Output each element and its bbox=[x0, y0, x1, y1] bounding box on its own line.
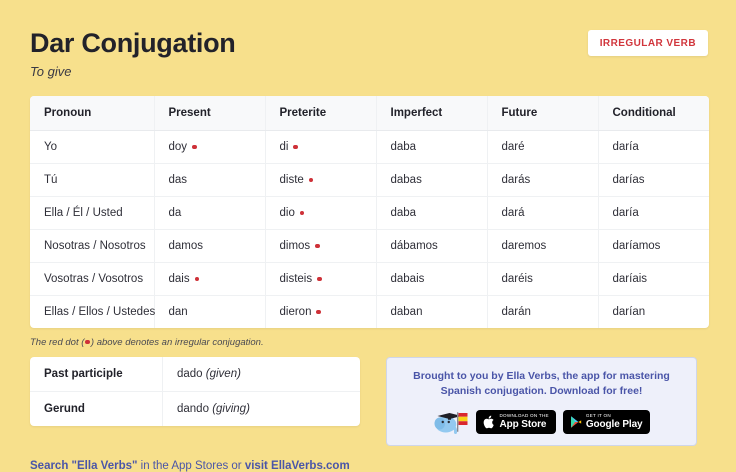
elephant-mascot-icon bbox=[433, 409, 469, 435]
column-header-pronoun: Pronoun bbox=[30, 96, 154, 131]
apple-icon bbox=[483, 415, 495, 429]
cell-pronoun: Ella / Él / Usted bbox=[30, 197, 154, 230]
cell-conditional: daría bbox=[598, 131, 709, 164]
conjugated-form: damos bbox=[169, 240, 204, 252]
verb-translation: To give bbox=[30, 64, 236, 79]
irregular-note: The red dot () above denotes an irregula… bbox=[30, 337, 708, 348]
conjugated-form: daba bbox=[391, 207, 417, 219]
footer-cta: Search "Ella Verbs" in the App Stores or… bbox=[30, 460, 708, 472]
red-dot-icon bbox=[309, 178, 314, 183]
form-value: dado (given) bbox=[163, 357, 361, 392]
conjugated-form: darían bbox=[613, 306, 646, 318]
cell-pronoun: Ellas / Ellos / Ustedes bbox=[30, 296, 154, 329]
verb-name: Dar bbox=[30, 28, 74, 58]
form-word: dando bbox=[177, 403, 212, 415]
conjugated-form: dieron bbox=[280, 306, 312, 318]
page-header: Dar Conjugation To give IRREGULAR VERB bbox=[30, 26, 708, 79]
promo-box: Brought to you by Ella Verbs, the app fo… bbox=[386, 357, 697, 445]
form-translation: (given) bbox=[206, 368, 241, 380]
app-store-text: Download on the App Store bbox=[499, 414, 548, 430]
table-row: Ellas / Ellos / Ustedesdandierondabandar… bbox=[30, 296, 709, 329]
conjugated-form: dabais bbox=[391, 273, 425, 285]
title-block: Dar Conjugation To give bbox=[30, 26, 236, 79]
conjugated-form: das bbox=[169, 174, 188, 186]
store-badges: Download on the App Store GET IT ON Goog… bbox=[397, 409, 686, 435]
table-header-row: Pronoun Present Preterite Imperfect Futu… bbox=[30, 96, 709, 131]
form-value: dando (giving) bbox=[163, 392, 361, 427]
conjugated-form: darán bbox=[502, 306, 531, 318]
conjugated-form: daremos bbox=[502, 240, 547, 252]
column-header-imperfect: Imperfect bbox=[376, 96, 487, 131]
cell-conditional: daríais bbox=[598, 263, 709, 296]
red-dot-icon bbox=[192, 145, 197, 150]
table-row: Vosotras / Vosotrosdaisdisteisdabaisdaré… bbox=[30, 263, 709, 296]
cell-preterite: disteis bbox=[265, 263, 376, 296]
google-play-text: GET IT ON Google Play bbox=[586, 414, 643, 430]
red-dot-icon bbox=[195, 277, 200, 282]
cell-future: darás bbox=[487, 164, 598, 197]
google-play-icon bbox=[570, 415, 582, 429]
conjugated-form: daríamos bbox=[613, 240, 661, 252]
cell-present: doy bbox=[154, 131, 265, 164]
page-title: Dar Conjugation bbox=[30, 28, 236, 58]
cell-pronoun: Vosotras / Vosotros bbox=[30, 263, 154, 296]
google-play-big: Google Play bbox=[586, 420, 643, 430]
cell-imperfect: dabas bbox=[376, 164, 487, 197]
page-title-rest: Conjugation bbox=[74, 28, 235, 58]
cell-conditional: daría bbox=[598, 197, 709, 230]
table-row: Ella / Él / Usteddadiodabadarádaría bbox=[30, 197, 709, 230]
google-play-small: GET IT ON bbox=[586, 414, 643, 419]
cell-imperfect: daba bbox=[376, 197, 487, 230]
conjugation-table: Pronoun Present Preterite Imperfect Futu… bbox=[30, 96, 709, 328]
cell-pronoun: Yo bbox=[30, 131, 154, 164]
cell-conditional: darías bbox=[598, 164, 709, 197]
table-row: Túdasdistedabasdarásdarías bbox=[30, 164, 709, 197]
table-row: Yodoydidabadarédaría bbox=[30, 131, 709, 164]
cell-pronoun: Tú bbox=[30, 164, 154, 197]
cell-preterite: dio bbox=[265, 197, 376, 230]
nonfinite-forms-card: Past participledado (given)Gerunddando (… bbox=[30, 357, 360, 426]
conjugated-form: daría bbox=[613, 207, 639, 219]
cell-pronoun: Nosotras / Nosotros bbox=[30, 230, 154, 263]
conjugated-form: diste bbox=[280, 174, 304, 186]
cell-present: dan bbox=[154, 296, 265, 329]
cell-preterite: dimos bbox=[265, 230, 376, 263]
cell-future: daremos bbox=[487, 230, 598, 263]
red-dot-icon bbox=[85, 340, 90, 345]
conjugated-form: daríais bbox=[613, 273, 648, 285]
app-store-badge[interactable]: Download on the App Store bbox=[476, 410, 555, 434]
conjugated-form: dio bbox=[280, 207, 295, 219]
cell-future: daréis bbox=[487, 263, 598, 296]
conjugated-form: dabas bbox=[391, 174, 422, 186]
form-word: dado bbox=[177, 368, 206, 380]
form-label: Past participle bbox=[30, 357, 163, 392]
form-label: Gerund bbox=[30, 392, 163, 427]
promo-line-2: Spanish conjugation. Download for free! bbox=[397, 384, 686, 399]
cell-future: darán bbox=[487, 296, 598, 329]
cell-conditional: darían bbox=[598, 296, 709, 329]
column-header-future: Future bbox=[487, 96, 598, 131]
conjugated-form: darías bbox=[613, 174, 645, 186]
red-dot-icon bbox=[317, 277, 322, 282]
irregular-note-before: The red dot ( bbox=[30, 337, 84, 348]
cell-preterite: di bbox=[265, 131, 376, 164]
conjugated-form: daría bbox=[613, 141, 639, 153]
cell-preterite: dieron bbox=[265, 296, 376, 329]
conjugation-table-body: YodoydidabadarédaríaTúdasdistedabasdarás… bbox=[30, 131, 709, 329]
cell-imperfect: dábamos bbox=[376, 230, 487, 263]
cell-present: dais bbox=[154, 263, 265, 296]
cell-preterite: diste bbox=[265, 164, 376, 197]
cell-present: damos bbox=[154, 230, 265, 263]
conjugated-form: dimos bbox=[280, 240, 311, 252]
red-dot-icon bbox=[300, 211, 305, 216]
cell-imperfect: daban bbox=[376, 296, 487, 329]
cell-future: dará bbox=[487, 197, 598, 230]
cell-imperfect: dabais bbox=[376, 263, 487, 296]
conjugated-form: dais bbox=[169, 273, 190, 285]
red-dot-icon bbox=[293, 145, 298, 150]
conjugated-form: di bbox=[280, 141, 289, 153]
form-row: Past participledado (given) bbox=[30, 357, 360, 392]
conjugated-form: darás bbox=[502, 174, 531, 186]
app-store-small: Download on the bbox=[499, 414, 548, 419]
footer-website-link[interactable]: visit EllaVerbs.com bbox=[245, 460, 350, 472]
nonfinite-forms-table: Past participledado (given)Gerunddando (… bbox=[30, 357, 360, 426]
table-row: Nosotras / Nosotrosdamosdimosdábamosdare… bbox=[30, 230, 709, 263]
cell-present: das bbox=[154, 164, 265, 197]
conjugated-form: doy bbox=[169, 141, 188, 153]
promo-text: Brought to you by Ella Verbs, the app fo… bbox=[397, 369, 686, 399]
conjugated-form: dábamos bbox=[391, 240, 438, 252]
cell-present: da bbox=[154, 197, 265, 230]
column-header-present: Present bbox=[154, 96, 265, 131]
conjugation-page: Dar Conjugation To give IRREGULAR VERB P… bbox=[0, 0, 736, 460]
conjugation-table-card: Pronoun Present Preterite Imperfect Futu… bbox=[30, 96, 709, 328]
red-dot-icon bbox=[316, 310, 321, 315]
red-dot-icon bbox=[315, 244, 320, 249]
footer-middle: in the App Stores or bbox=[137, 460, 244, 472]
conjugated-form: daban bbox=[391, 306, 423, 318]
google-play-badge[interactable]: GET IT ON Google Play bbox=[563, 410, 650, 434]
cell-future: daré bbox=[487, 131, 598, 164]
column-header-conditional: Conditional bbox=[598, 96, 709, 131]
promo-line-1: Brought to you by Ella Verbs, the app fo… bbox=[397, 369, 686, 384]
irregular-note-after: ) above denotes an irregular conjugation… bbox=[91, 337, 264, 348]
cell-imperfect: daba bbox=[376, 131, 487, 164]
conjugated-form: daréis bbox=[502, 273, 533, 285]
footer-search-term: Search "Ella Verbs" bbox=[30, 460, 137, 472]
cell-conditional: daríamos bbox=[598, 230, 709, 263]
conjugated-form: da bbox=[169, 207, 182, 219]
conjugated-form: dan bbox=[169, 306, 188, 318]
lower-section: Past participledado (given)Gerunddando (… bbox=[30, 357, 708, 445]
status-badge: IRREGULAR VERB bbox=[588, 30, 708, 56]
app-store-big: App Store bbox=[499, 420, 548, 430]
column-header-preterite: Preterite bbox=[265, 96, 376, 131]
nonfinite-forms-body: Past participledado (given)Gerunddando (… bbox=[30, 357, 360, 426]
form-translation: (giving) bbox=[212, 403, 250, 415]
conjugated-form: daré bbox=[502, 141, 525, 153]
conjugated-form: daba bbox=[391, 141, 417, 153]
form-row: Gerunddando (giving) bbox=[30, 392, 360, 427]
conjugated-form: dará bbox=[502, 207, 525, 219]
conjugated-form: disteis bbox=[280, 273, 313, 285]
